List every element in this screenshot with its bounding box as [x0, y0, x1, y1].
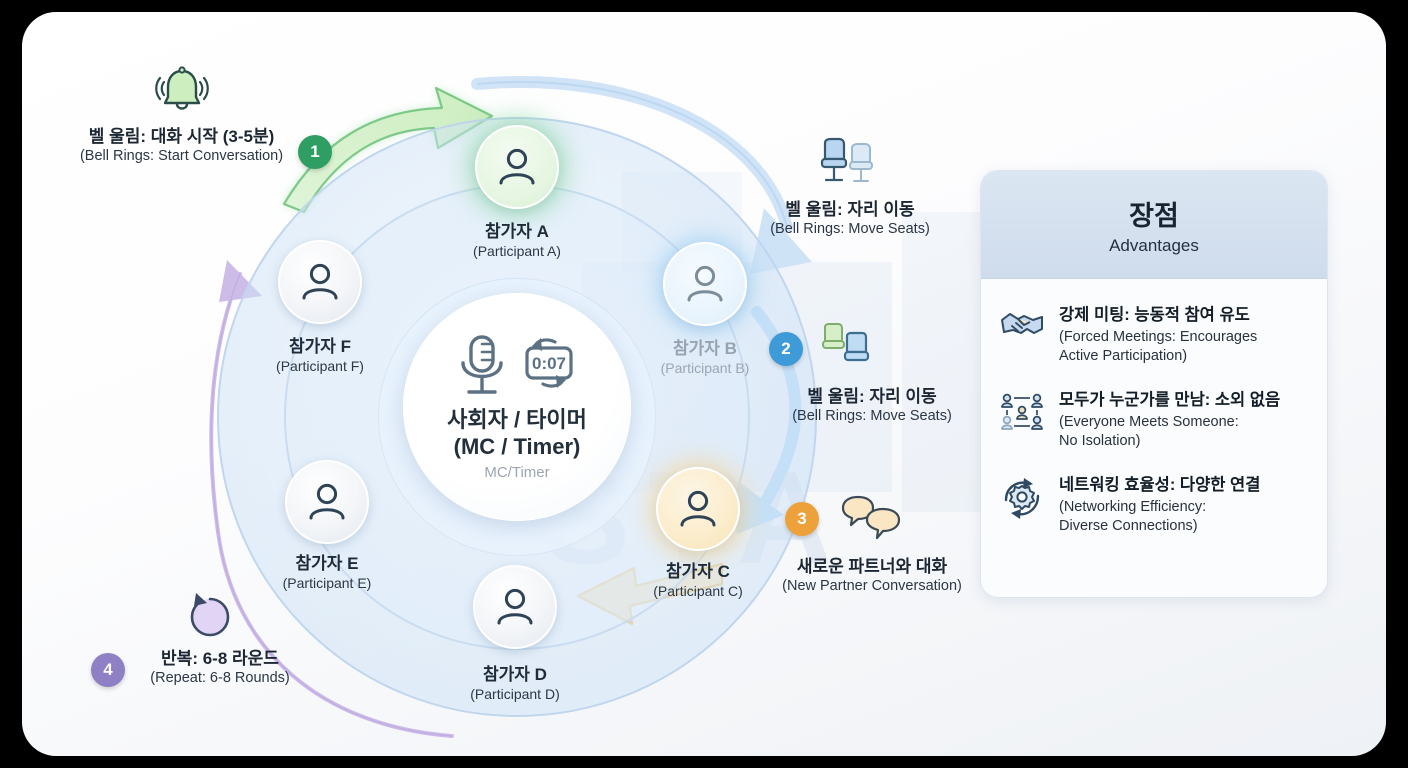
step-badge-2[interactable]: 2 [769, 332, 803, 366]
repeat-loop-icon [182, 590, 236, 642]
advantages-title-kr: 장점 [1129, 194, 1179, 233]
diagram-canvas: STA [22, 12, 1386, 756]
person-icon [493, 585, 537, 629]
advantage-1-en: (Forced Meetings: Encourages Active Part… [1059, 328, 1257, 365]
advantages-panel: 장점 Advantages 강제 미팅: 능동적 참여 유도 (Forced M… [980, 170, 1328, 598]
participant-label-d: 참가자 D (Participant D) [431, 660, 599, 702]
advantages-header: 장점 Advantages [981, 171, 1327, 279]
advantages-title-en: Advantages [1109, 236, 1199, 256]
advantage-1-kr: 강제 미팅: 능동적 참여 유도 [1059, 305, 1257, 326]
person-icon [305, 480, 349, 524]
advantages-list: 강제 미팅: 능동적 참여 유도 (Forced Meetings: Encou… [981, 279, 1327, 535]
step-badge-4[interactable]: 4 [91, 653, 125, 687]
advantage-3-en: (Networking Efficiency: Diverse Connecti… [1059, 498, 1260, 535]
participant-label-c: 참가자 C (Participant C) [614, 557, 782, 599]
timer-value: 0:07 [532, 354, 566, 373]
participant-label-e: 참가자 E (Participant E) [243, 549, 411, 591]
advantage-2-kr: 모두가 누군가를 만남: 소외 없음 [1059, 390, 1280, 411]
speech-bubbles-icon [837, 494, 907, 546]
center-mc-timer-node[interactable]: 0:07 사회자 / 타이머 (MC / Timer) MC/Timer [403, 293, 631, 521]
avatar-b [663, 242, 747, 326]
participant-node-e[interactable] [285, 460, 369, 544]
participant-label-a: 참가자 A (Participant A) [433, 217, 601, 259]
person-icon [495, 145, 539, 189]
seat-swap-icon [819, 322, 873, 370]
participant-node-b[interactable] [663, 242, 747, 326]
microphone-icon [455, 333, 509, 397]
gear-cycle-icon [1000, 478, 1044, 520]
person-icon [683, 262, 727, 306]
avatar-a [475, 125, 559, 209]
participant-label-f: 참가자 F (Participant F) [236, 332, 404, 374]
advantage-item-3: 네트워킹 효율성: 다양한 연결 (Networking Efficiency:… [999, 475, 1309, 535]
chairs-icon [817, 137, 879, 187]
step-badge-3[interactable]: 3 [785, 502, 819, 536]
step-1-annotation: 벨 울림: 대화 시작 (3-5분) (Bell Rings: Start Co… [60, 122, 303, 164]
avatar-c [656, 467, 740, 551]
participant-label-b: 참가자 B (Participant B) [621, 334, 789, 376]
advantage-3-kr: 네트워킹 효율성: 다양한 연결 [1059, 475, 1260, 496]
step-2-annotation: 벨 울림: 자리 이동 (Bell Rings: Move Seats) [774, 382, 970, 424]
move-seats-annotation-top: 벨 울림: 자리 이동 (Bell Rings: Move Seats) [752, 195, 948, 237]
advantage-2-en: (Everyone Meets Someone: No Isolation) [1059, 413, 1280, 450]
center-title-en: (MC / Timer) [454, 434, 581, 461]
participant-node-a[interactable] [475, 125, 559, 209]
step-3-annotation: 새로운 파트너와 대화 (New Partner Conversation) [774, 552, 970, 594]
center-title-kr: 사회자 / 타이머 [447, 407, 587, 434]
step-4-annotation: 반복: 6-8 라운드 (Repeat: 6-8 Rounds) [130, 644, 310, 686]
person-icon [298, 260, 342, 304]
advantage-item-1: 강제 미팅: 능동적 참여 유도 (Forced Meetings: Encou… [999, 305, 1309, 365]
center-subtitle: MC/Timer [484, 464, 549, 481]
step-badge-1[interactable]: 1 [298, 135, 332, 169]
avatar-f [278, 240, 362, 324]
person-icon [676, 487, 720, 531]
timer-icon: 0:07 [517, 336, 579, 394]
center-icon-group: 0:07 [455, 333, 579, 397]
bell-ringing-icon [151, 65, 213, 117]
people-network-icon [1000, 393, 1044, 433]
avatar-d [473, 565, 557, 649]
participant-node-f[interactable] [278, 240, 362, 324]
participant-node-c[interactable] [656, 467, 740, 551]
advantage-item-2: 모두가 누군가를 만남: 소외 없음 (Everyone Meets Someo… [999, 390, 1309, 450]
participant-node-d[interactable] [473, 565, 557, 649]
avatar-e [285, 460, 369, 544]
handshake-icon [1000, 308, 1044, 342]
